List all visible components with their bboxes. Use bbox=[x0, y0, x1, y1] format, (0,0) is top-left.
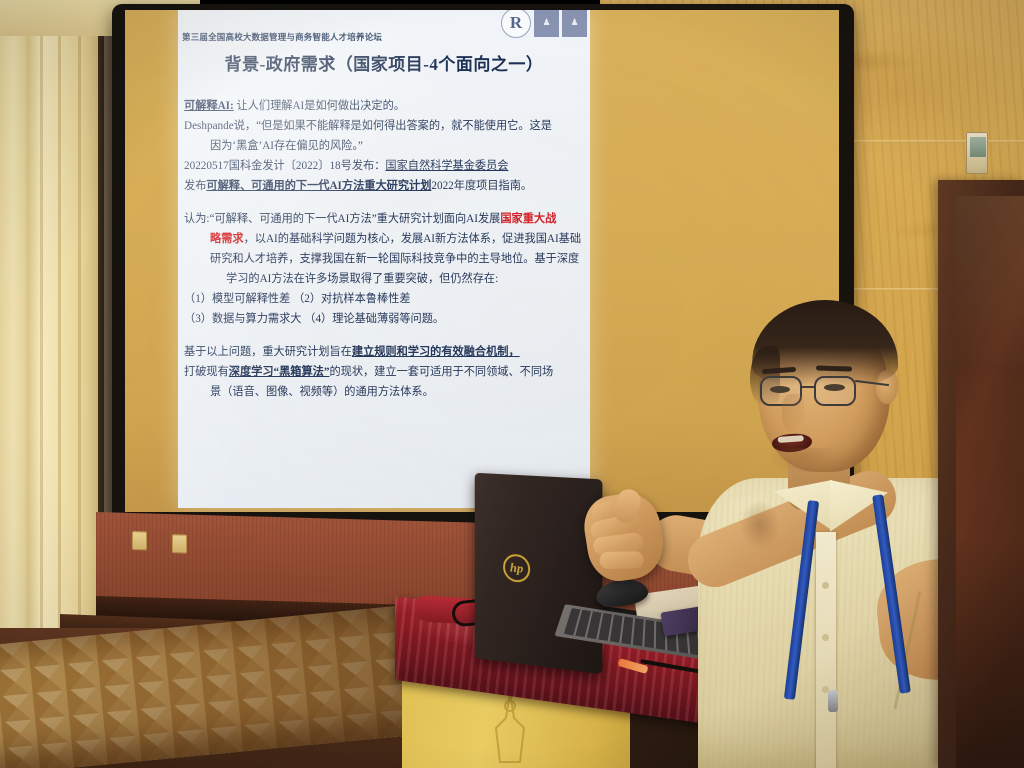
slide-line-7-text: ，以AI的基础科学问题为核心，发展AI新方法体系，促进我国AI基础 bbox=[244, 233, 581, 245]
wall-mounted-control-panel[interactable] bbox=[966, 132, 988, 174]
slide-line-12-text: 基于以上问题，重大研究计划旨在 bbox=[184, 346, 352, 358]
slide-content: 第三届全国高校大数据管理与商务智能人才培养论坛 R ♟ ♟ 背景-政府需求（国家… bbox=[178, 10, 590, 508]
slide-line-12-underline: 建立规则和学习的有效融合机制， bbox=[352, 346, 520, 358]
door-gloss-highlight bbox=[956, 196, 1024, 768]
slide-line-13-underline: 深度学习“黑箱算法” bbox=[229, 366, 330, 378]
wall-outlet-2 bbox=[172, 534, 187, 553]
eyeglasses-lens-right bbox=[814, 376, 856, 406]
presentation-photo-scene: 第三届全国高校大数据管理与商务智能人才培养论坛 R ♟ ♟ 背景-政府需求（国家… bbox=[0, 0, 1024, 768]
slide-line-5-tail: 2022年度项目指南。 bbox=[431, 180, 532, 192]
finger-4 bbox=[599, 551, 643, 569]
wall-outlet-1 bbox=[132, 531, 147, 550]
slide-paragraph-gap-2 bbox=[184, 329, 586, 342]
pillar-flute-1 bbox=[40, 0, 43, 690]
slide-line-11: （3）数据与算力需求大 （4）理论基础薄弱等问题。 bbox=[184, 309, 586, 329]
podium-emblem-icon bbox=[480, 688, 540, 768]
slide-line-12: 基于以上问题，重大研究计划旨在建立规则和学习的有效融合机制， bbox=[184, 342, 586, 362]
door-frame bbox=[938, 180, 1024, 768]
slide-line-6: 认为:“可解释、可通用的下一代AI方法”重大研究计划面向AI发展国家重大战 bbox=[184, 209, 586, 229]
door-panel[interactable] bbox=[956, 196, 1024, 768]
slide-logo-group: R ♟ ♟ bbox=[501, 10, 587, 38]
projected-slide: 第三届全国高校大数据管理与商务智能人才培养论坛 R ♟ ♟ 背景-政府需求（国家… bbox=[178, 10, 590, 508]
slide-line-6-text: 认为:“可解释、可通用的下一代AI方法”重大研究计划面向AI发展 bbox=[184, 213, 500, 225]
slide-body-text: 可解释AI: 让人们理解AI是如何做出决定的。 Deshpande说，“但是如果… bbox=[184, 96, 586, 402]
hp-logo-icon: hp bbox=[503, 553, 530, 583]
slide-line-6-highlight: 国家重大战 bbox=[500, 213, 556, 225]
institution-logo-2: ♟ bbox=[562, 10, 587, 37]
slide-line-7-highlight: 略需求 bbox=[210, 233, 244, 245]
institution-logo-1: ♟ bbox=[534, 10, 559, 37]
slide-line-4-text: 20220517国科金发计〔2022〕18号发布： bbox=[184, 160, 385, 172]
institution-logo-2-glyph: ♟ bbox=[570, 17, 578, 28]
slide-line-1: 可解释AI: 让人们理解AI是如何做出决定的。 bbox=[184, 96, 586, 116]
slide-line-5: 发布可解释、可通用的下一代AI方法重大研究计划2022年度项目指南。 bbox=[184, 176, 586, 196]
slide-line-1-rest: 让人们理解AI是如何做出决定的。 bbox=[237, 100, 405, 112]
slide-line-13-text: 打破现有 bbox=[184, 366, 229, 378]
nose bbox=[782, 394, 804, 432]
arm-shadow bbox=[740, 500, 780, 550]
pillar-flute-2 bbox=[58, 0, 61, 690]
slide-line-3: 因为‘黑盒’AI存在偏见的风险。” bbox=[184, 136, 586, 156]
slide-paragraph-gap-1 bbox=[184, 196, 586, 209]
slide-line-5-text: 发布 bbox=[184, 180, 206, 192]
slide-line-9: 学习的AI方法在许多场景取得了重要突破，但仍然存在: bbox=[184, 269, 586, 289]
institution-logo-1-glyph: ♟ bbox=[542, 17, 550, 28]
slide-line-4-underline: 国家自然科学基金委员会 bbox=[385, 160, 508, 172]
slide-line-7: 略需求，以AI的基础科学问题为核心，发展AI新方法体系，促进我国AI基础 bbox=[184, 229, 586, 249]
slide-line-4: 20220517国科金发计〔2022〕18号发布：国家自然科学基金委员会 bbox=[184, 156, 586, 176]
lanyard-clip bbox=[828, 690, 838, 712]
slide-line-8: 研究和人才培养，支撑我国在新一轮国际科技竞争中的主导地位。基于深度 bbox=[184, 249, 586, 269]
wall-panel-screen bbox=[970, 137, 986, 157]
slide-line-13-tail: 的现状，建立一套可适用于不同领域、不同场 bbox=[329, 366, 553, 378]
pillar-flute-3 bbox=[78, 0, 81, 690]
slide-banner-title: 第三届全国高校大数据管理与商务智能人才培养论坛 bbox=[182, 30, 482, 45]
slide-title: 背景-政府需求（国家项目-4个面向之一） bbox=[178, 50, 590, 75]
teeth bbox=[778, 435, 804, 443]
shirt-button-2 bbox=[822, 634, 829, 641]
slide-line-14: 景（语音、图像、视频等）的通用方法体系。 bbox=[184, 382, 586, 402]
eyeglasses-bridge bbox=[802, 386, 816, 388]
marble-pillar-inner bbox=[28, 0, 98, 690]
shirt-button-1 bbox=[822, 582, 829, 589]
slide-line-10: （1）模型可解释性差 （2）对抗样本鲁棒性差 bbox=[184, 289, 586, 309]
slide-line-13: 打破现有深度学习“黑箱算法”的现状，建立一套可适用于不同领域、不同场 bbox=[184, 362, 586, 382]
circular-r-logo: R bbox=[501, 10, 531, 38]
slide-line-1-head: 可解释AI: bbox=[184, 100, 234, 112]
slide-line-5-underline: 可解释、可通用的下一代AI方法重大研究计划 bbox=[206, 180, 431, 192]
laptop-lid[interactable]: hp bbox=[475, 473, 603, 674]
chin-shadow bbox=[768, 448, 838, 474]
slide-line-2: Deshpande说，“但是如果不能解释是如何得出答案的，就不能使用它。这是 bbox=[184, 116, 586, 136]
shirt-placket bbox=[816, 532, 836, 768]
